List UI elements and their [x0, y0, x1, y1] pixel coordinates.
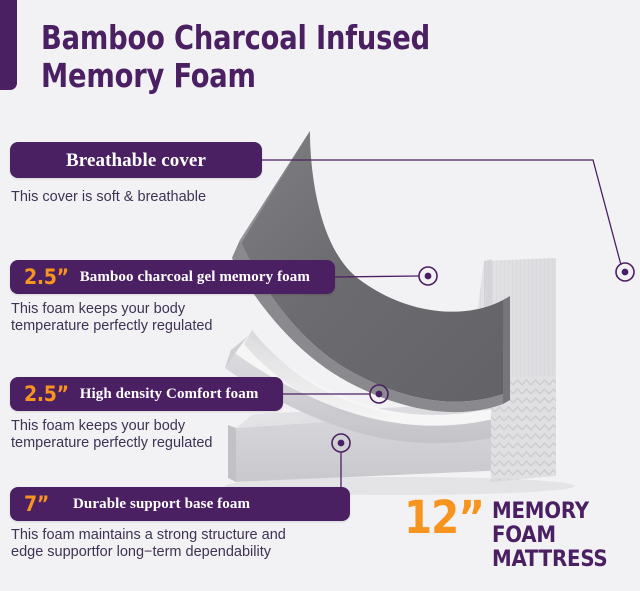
marker-cover [616, 263, 634, 281]
callout-badge-comfort[interactable]: 2.5” High density Comfort foam [10, 377, 283, 411]
marker-base [332, 434, 350, 452]
layer-markers [332, 263, 634, 452]
callout-description-cover: This cover is soft & breathable [11, 189, 206, 206]
connector-lines [262, 160, 621, 487]
page-title-line-1: Bamboo Charcoal Infused [41, 19, 473, 57]
product-size-line-1: MEMORY FOAM [492, 500, 640, 548]
connector-gel [335, 276, 419, 277]
callout-badge-gel-thickness: 2.5” [24, 267, 69, 288]
callout-badge-gel-label: Bamboo charcoal gel memory foam [80, 270, 310, 285]
callout-description-base: This foam maintains a strong structure a… [11, 527, 286, 561]
connector-cover [262, 160, 621, 265]
accent-bar [0, 0, 17, 90]
callout-description-comfort: This foam keeps your body temperature pe… [11, 418, 213, 452]
product-size-block: 12” MEMORY FOAM MATTRESS [404, 498, 640, 572]
product-size-words: MEMORY FOAM MATTRESS [492, 498, 640, 572]
marker-comfort [370, 385, 388, 403]
mattress-infographic: Bamboo Charcoal Infused Memory Foam [0, 0, 640, 591]
callout-badge-base-thickness: 7” [24, 494, 49, 515]
page-title-line-2: Memory Foam [41, 57, 473, 95]
callout-badge-comfort-label: High density Comfort foam [80, 387, 259, 402]
product-size-line-2: MATTRESS [492, 548, 640, 572]
callout-badge-base-label: Durable support base foam [73, 497, 250, 512]
callout-badge-cover-label: Breathable cover [66, 151, 206, 170]
callout-description-gel: This foam keeps your body temperature pe… [11, 301, 213, 335]
callout-badge-cover[interactable]: Breathable cover [10, 142, 262, 178]
fabric-knit-panel [464, 258, 556, 482]
marker-gel [419, 267, 437, 285]
callout-badge-comfort-thickness: 2.5” [24, 384, 69, 405]
layer-base-foam [228, 400, 556, 482]
callout-badge-base[interactable]: 7” Durable support base foam [10, 487, 350, 521]
callout-badge-gel[interactable]: 2.5” Bamboo charcoal gel memory foam [10, 260, 335, 294]
page-title: Bamboo Charcoal Infused Memory Foam [41, 19, 473, 95]
product-size-number: 12” [404, 498, 484, 538]
